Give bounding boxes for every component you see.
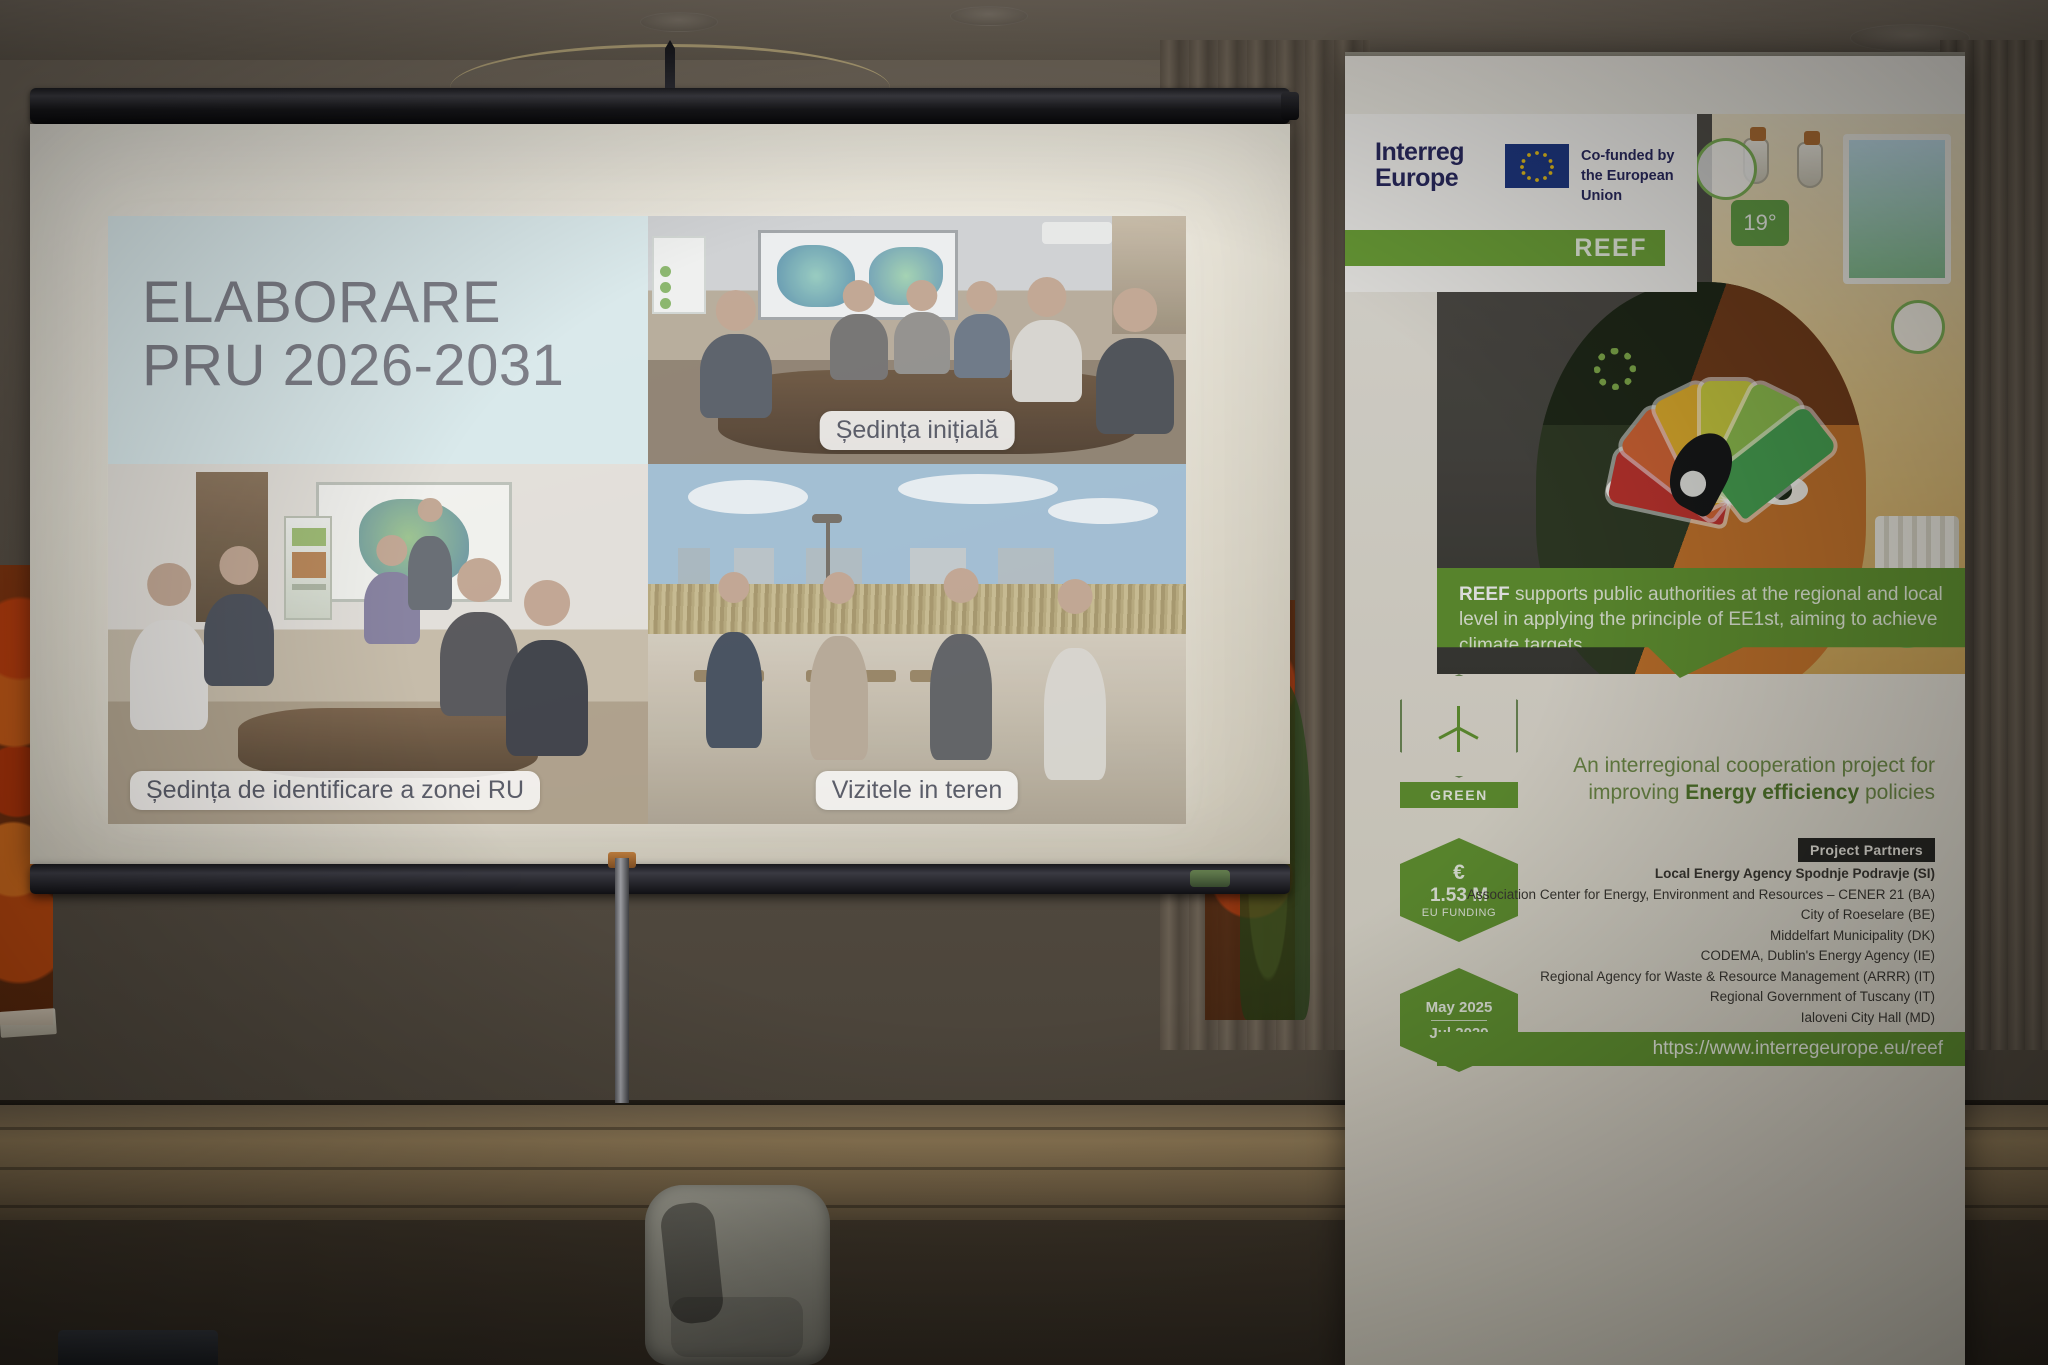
tagline-line-1: An interregional cooperation project for <box>1435 752 1935 779</box>
visitor <box>930 634 992 760</box>
tripod-pole <box>615 858 629 1103</box>
interreg-logo-line-2: Europe <box>1375 166 1464 192</box>
air-conditioner-icon <box>1042 222 1112 244</box>
screen-pull-handle[interactable] <box>1190 870 1230 887</box>
cloud <box>1048 498 1158 524</box>
partner-item: Association Center for Energy, Environme… <box>1415 885 1935 906</box>
insulation-icon <box>1891 300 1945 354</box>
tagline-line-2-bold: Energy efficiency <box>1685 781 1859 804</box>
visitor <box>706 632 762 748</box>
partner-item: Regional Agency for Waste & Resource Man… <box>1415 967 1935 988</box>
backpack <box>645 1185 830 1365</box>
visitor <box>1044 648 1106 780</box>
backpack-pocket <box>671 1297 803 1357</box>
lightbulb-icon <box>1797 142 1823 188</box>
screen-top-bar <box>30 88 1290 124</box>
photo-caption-ru-zone: Ședința de identificare a zonei RU <box>130 771 540 810</box>
eu-funding-label-line-1: Co-funded by <box>1581 146 1697 166</box>
presentation-slide: ELABORARE PRU 2026-2031 <box>108 216 1186 824</box>
tagline-line-2-pre: improving <box>1588 781 1685 804</box>
banner-url[interactable]: https://www.interregeurope.eu/reef <box>1437 1032 1965 1066</box>
windmill-icon <box>1433 700 1485 752</box>
papers-on-table <box>0 1008 57 1038</box>
partner-item: CODEMA, Dublin's Energy Agency (IE) <box>1415 946 1935 967</box>
slide-title-panel: ELABORARE PRU 2026-2031 <box>108 216 648 464</box>
cloud <box>688 480 808 514</box>
rollup-banner <box>284 516 332 620</box>
attendee <box>1096 338 1174 434</box>
photo-caption-field-visits: Vizitele in teren <box>816 771 1018 810</box>
attendee <box>1012 320 1082 402</box>
banner-tagline: An interregional cooperation project for… <box>1435 752 1935 807</box>
laptop <box>58 1330 218 1365</box>
attendee <box>130 620 208 730</box>
eu-funding-label-line-2: the European Union <box>1581 166 1697 206</box>
partner-item: City of Roeselare (BE) <box>1415 905 1935 926</box>
partner-item: Local Energy Agency Spodnje Podravje (SI… <box>1415 864 1935 885</box>
attendee <box>506 640 588 756</box>
banner-top-cap <box>1345 52 1965 56</box>
photo-caption-initial-meeting: Ședința inițială <box>820 411 1015 450</box>
projection-surface: ELABORARE PRU 2026-2031 <box>30 124 1290 864</box>
radiator-valve-icon <box>1695 138 1757 200</box>
meeting-table <box>238 708 538 778</box>
slide-photo-field-visits: Vizitele in teren <box>648 464 1186 824</box>
energy-rating-gauge-icon <box>1566 349 1836 499</box>
attendee <box>204 594 274 686</box>
screen-bottom-bar <box>30 864 1290 894</box>
screen-hanger <box>450 44 890 90</box>
partner-item: Ialoveni City Hall (MD) <box>1415 1008 1935 1029</box>
window-icon <box>1843 134 1951 284</box>
interreg-logo-line-1: Interreg <box>1375 140 1464 166</box>
attendee <box>408 536 452 610</box>
project-partners-heading: Project Partners <box>1798 838 1935 862</box>
mission-text: supports public authorities at the regio… <box>1459 584 1943 656</box>
eu-flag-icon <box>1505 144 1569 188</box>
slide-title-line-2: PRU 2026-2031 <box>142 335 648 398</box>
partner-item: Middelfart Municipality (DK) <box>1415 926 1935 947</box>
attendee <box>894 312 950 374</box>
thermostat-low-display: 19° <box>1731 200 1789 246</box>
reef-rollup-banner: 23° 19° Interreg Europe <box>1345 52 1965 1365</box>
mission-bold-word: REEF <box>1459 584 1510 605</box>
visitor <box>810 636 868 760</box>
ceiling-light-2 <box>950 6 1028 26</box>
attendee <box>954 314 1010 378</box>
slide-photo-ru-zone-meeting: Ședința de identificare a zonei RU <box>108 464 648 824</box>
reef-project-tag: REEF <box>1345 230 1665 266</box>
partner-item: Regional Government of Tuscany (IT) <box>1415 987 1935 1008</box>
attendee <box>700 334 772 418</box>
projector-screen-unit: ELABORARE PRU 2026-2031 <box>30 88 1290 894</box>
rollup-poster <box>652 236 706 314</box>
tagline-line-2-post: policies <box>1859 781 1935 804</box>
banner-side-imprint <box>1353 1017 1363 1097</box>
attendee <box>830 314 888 380</box>
cloud <box>898 474 1058 504</box>
logo-panel: Interreg Europe Co-funded by the Europea… <box>1345 114 1697 292</box>
ceiling-light-1 <box>640 12 718 32</box>
slide-photo-initial-meeting: Ședința inițială <box>648 216 1186 464</box>
slide-title-line-1: ELABORARE <box>142 272 648 335</box>
